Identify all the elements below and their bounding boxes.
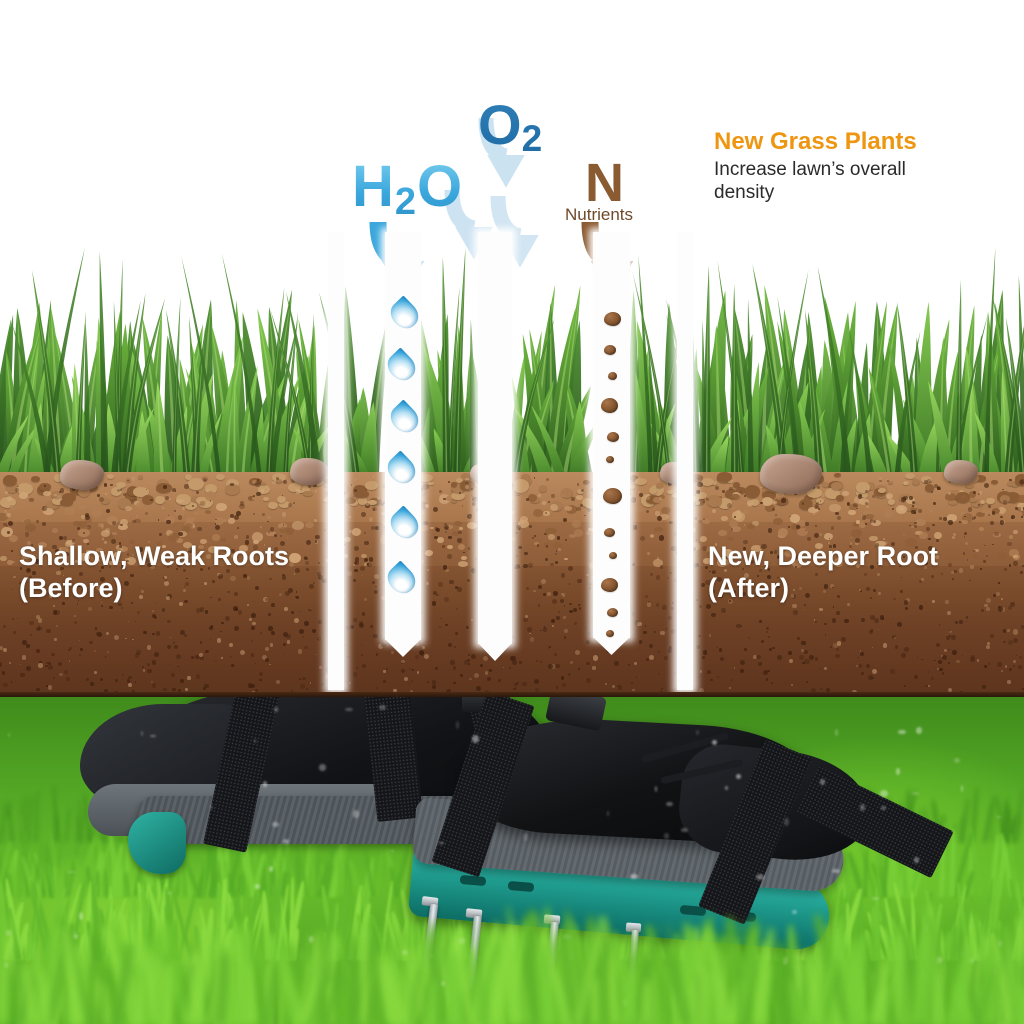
soil-speck	[262, 513, 265, 516]
soil-speck	[464, 491, 467, 494]
soil-speck	[655, 511, 659, 515]
soil-pebble	[263, 497, 269, 501]
soil-speck	[857, 657, 858, 658]
soil-speck	[471, 488, 473, 490]
product-photo	[0, 692, 1024, 1024]
soil-speck	[80, 648, 83, 651]
soil-grain	[561, 494, 566, 497]
soil-speck	[974, 516, 977, 519]
soil-speck	[38, 663, 42, 667]
soil-grain	[125, 506, 132, 511]
soil-speck	[305, 561, 309, 565]
soil-speck	[295, 568, 300, 573]
soil-speck	[669, 521, 673, 525]
soil-speck	[471, 654, 476, 659]
soil-speck	[174, 510, 176, 512]
soil-pebble	[717, 472, 733, 481]
soil-speck	[356, 667, 358, 669]
soil-speck	[815, 621, 817, 623]
soil-speck	[581, 489, 584, 492]
soil-speck	[988, 514, 990, 516]
dew-sparkle	[912, 792, 920, 794]
soil-speck	[1007, 629, 1010, 632]
soil-speck	[6, 513, 11, 518]
soil-speck	[259, 679, 261, 681]
soil-speck	[22, 655, 26, 659]
soil-speck	[715, 486, 719, 490]
soil-speck	[634, 662, 637, 665]
soil-speck	[998, 606, 1003, 611]
soil-speck	[380, 635, 383, 638]
soil-speck	[447, 554, 451, 558]
surface-rock	[944, 460, 978, 484]
soil-speck	[372, 581, 376, 585]
soil-speck	[424, 654, 429, 659]
soil-speck	[646, 658, 649, 661]
soil-speck	[666, 628, 668, 630]
soil-speck	[645, 595, 648, 598]
soil-speck	[448, 481, 450, 483]
soil-speck	[355, 479, 357, 481]
diagram-panel: H2O O2 N Nutrients New Grass Plants Incr…	[0, 0, 1024, 692]
soil-grain	[305, 522, 313, 528]
soil-speck	[364, 532, 366, 534]
soil-speck	[551, 619, 555, 623]
soil-speck	[552, 599, 557, 604]
soil-pebble	[349, 494, 354, 497]
soil-speck	[1008, 606, 1012, 610]
soil-speck	[904, 482, 907, 485]
soil-pebble	[513, 479, 529, 492]
soil-speck	[347, 571, 352, 576]
soil-speck	[423, 521, 428, 526]
soil-grain	[773, 501, 778, 504]
soil-speck	[438, 682, 439, 683]
soil-speck	[707, 670, 711, 674]
soil-speck	[42, 522, 46, 526]
soil-speck	[909, 496, 913, 500]
soil-speck	[132, 639, 133, 640]
soil-speck	[88, 607, 92, 611]
soil-speck	[804, 650, 808, 654]
soil-speck	[259, 672, 263, 676]
soil-speck	[120, 524, 123, 527]
soil-speck	[541, 579, 546, 584]
soil-speck	[580, 504, 583, 507]
soil-grain	[205, 510, 211, 514]
soil-grain	[528, 494, 537, 502]
soil-speck	[375, 526, 379, 530]
dew-sparkle	[916, 727, 921, 734]
soil-pebble	[29, 498, 34, 501]
soil-speck	[660, 631, 664, 635]
soil-speck	[206, 503, 209, 506]
soil-speck	[374, 574, 379, 579]
soil-speck	[143, 669, 145, 671]
label-h2o: H2O	[352, 158, 463, 221]
soil-speck	[699, 605, 702, 608]
soil-pebble	[261, 482, 266, 485]
soil-speck	[13, 631, 16, 634]
soil-speck	[439, 626, 441, 628]
soil-speck	[990, 521, 994, 525]
soil-pebble	[888, 499, 895, 504]
soil-speck	[962, 655, 964, 657]
soil-speck	[804, 609, 806, 611]
soil-speck	[9, 662, 11, 664]
soil-speck	[462, 505, 464, 507]
soil-speck	[354, 569, 357, 572]
soil-speck	[464, 660, 468, 664]
soil-speck	[177, 666, 178, 667]
soil-speck	[866, 664, 870, 668]
soil-pebble	[991, 480, 998, 484]
soil-speck	[1013, 665, 1015, 667]
soil-grain	[352, 528, 362, 536]
soil-speck	[661, 688, 663, 690]
nutrient-granule	[608, 372, 617, 380]
soil-speck	[804, 659, 809, 664]
soil-speck	[467, 514, 472, 519]
soil-speck	[558, 611, 559, 612]
soil-speck	[568, 673, 571, 676]
soil-speck	[426, 582, 429, 585]
soil-speck	[304, 621, 309, 626]
soil-speck	[515, 564, 520, 569]
soil-speck	[287, 640, 291, 644]
soil-speck	[122, 674, 125, 677]
soil-grain	[829, 504, 841, 513]
soil-speck	[1003, 629, 1007, 633]
soil-grain	[851, 529, 862, 537]
soil-speck	[234, 515, 239, 520]
soil-pebble	[912, 479, 920, 485]
soil-speck	[988, 662, 991, 665]
soil-grain	[458, 544, 465, 549]
soil-speck	[404, 677, 408, 681]
soil-speck	[466, 626, 469, 629]
soil-speck	[468, 547, 471, 550]
soil-speck	[947, 611, 951, 615]
lace-highlight	[712, 740, 717, 745]
soil-speck	[543, 593, 546, 596]
aerator-plate-left	[128, 812, 186, 874]
soil-speck	[675, 512, 676, 513]
soil-speck	[980, 568, 982, 570]
soil-speck	[815, 525, 817, 527]
soil-speck	[729, 487, 733, 491]
soil-speck	[731, 528, 734, 531]
soil-speck	[411, 680, 413, 682]
soil-speck	[577, 483, 579, 485]
soil-speck	[554, 653, 557, 656]
soil-speck	[90, 682, 94, 686]
grass-blade	[643, 980, 652, 1024]
soil-speck	[740, 669, 745, 674]
soil-speck	[215, 661, 217, 663]
soil-speck	[74, 621, 77, 624]
soil-speck	[445, 624, 448, 627]
soil-grain	[914, 505, 919, 508]
soil-speck	[1004, 568, 1007, 571]
soil-speck	[59, 536, 63, 540]
soil-speck	[970, 565, 973, 568]
soil-speck	[237, 527, 239, 529]
soil-speck	[578, 604, 580, 606]
soil-speck	[819, 533, 822, 536]
soil-grain	[961, 520, 967, 523]
soil-speck	[25, 532, 29, 536]
soil-speck	[928, 685, 930, 687]
soil-speck	[251, 626, 255, 630]
soil-speck	[912, 505, 914, 507]
soil-speck	[294, 573, 296, 575]
soil-speck	[734, 516, 736, 518]
soil-speck	[941, 573, 943, 575]
soil-grain	[735, 512, 745, 521]
soil-grain	[1013, 530, 1018, 534]
soil-speck	[298, 649, 303, 654]
soil-speck	[538, 585, 542, 589]
soil-speck	[570, 661, 573, 664]
soil-speck	[990, 634, 994, 638]
soil-speck	[269, 664, 271, 666]
soil-grain	[654, 527, 662, 532]
soil-speck	[1009, 564, 1012, 567]
soil-grain	[564, 558, 568, 561]
soil-speck	[1003, 500, 1008, 505]
soil-speck	[825, 634, 827, 636]
soil-speck	[318, 562, 320, 564]
soil-speck	[215, 525, 220, 530]
soil-speck	[172, 488, 176, 492]
soil-speck	[97, 499, 99, 501]
soil-grain	[344, 537, 352, 543]
soil-pebble	[365, 481, 377, 490]
soil-speck	[890, 623, 891, 624]
soil-speck	[662, 605, 667, 610]
soil-speck	[777, 655, 782, 660]
soil-speck	[948, 563, 952, 567]
soil-speck	[632, 689, 634, 691]
soil-speck	[205, 650, 208, 653]
soil-speck	[422, 512, 425, 515]
soil-speck	[766, 678, 768, 680]
soil-speck	[524, 552, 527, 555]
soil-grain	[19, 492, 28, 498]
soil-speck	[105, 656, 107, 658]
soil-pebble	[834, 473, 841, 477]
soil-speck	[964, 532, 967, 535]
soil-speck	[30, 634, 31, 635]
soil-grain	[520, 492, 529, 498]
soil-speck	[636, 676, 638, 678]
soil-speck	[370, 625, 373, 628]
soil-speck	[128, 683, 132, 687]
soil-grain	[700, 536, 707, 542]
h2o-sub: 2	[395, 181, 417, 223]
soil-speck	[318, 620, 322, 624]
soil-speck	[289, 562, 294, 567]
soil-speck	[895, 645, 898, 648]
nutrient-granule	[601, 398, 618, 413]
soil-speck	[954, 570, 956, 572]
soil-speck	[1013, 660, 1016, 663]
soil-speck	[799, 655, 804, 660]
dew-sparkle	[881, 806, 887, 809]
soil-speck	[871, 677, 873, 679]
soil-speck	[125, 638, 126, 639]
soil-speck	[475, 488, 477, 490]
soil-speck	[344, 680, 347, 683]
soil-speck	[561, 676, 564, 679]
soil-speck	[401, 660, 405, 664]
dew-sparkle	[696, 730, 699, 735]
soil-speck	[265, 658, 269, 662]
soil-speck	[952, 578, 954, 580]
soil-speck	[268, 613, 271, 616]
soil-grain	[762, 497, 773, 505]
soil-grain	[425, 504, 429, 507]
soil-speck	[589, 587, 591, 589]
soil-speck	[364, 563, 366, 565]
soil-speck	[260, 632, 262, 634]
soil-grain	[212, 534, 220, 541]
soil-speck	[670, 572, 672, 574]
lace-highlight	[736, 774, 741, 779]
soil-speck	[914, 512, 916, 514]
dew-sparkle	[274, 707, 278, 711]
soil-speck	[639, 640, 643, 644]
soil-speck	[802, 502, 805, 505]
soil-speck	[376, 653, 378, 655]
soil-speck	[578, 668, 579, 669]
soil-speck	[917, 656, 919, 658]
soil-speck	[710, 679, 712, 681]
soil-speck	[255, 663, 256, 664]
soil-speck	[586, 640, 590, 644]
soil-grain	[91, 507, 102, 517]
dew-sparkle	[73, 931, 76, 933]
soil-speck	[3, 683, 7, 687]
soil-speck	[939, 517, 942, 520]
soil-speck	[251, 653, 255, 657]
soil-speck	[11, 589, 12, 590]
soil-speck	[538, 494, 541, 497]
soil-speck	[522, 653, 523, 654]
soil-speck	[345, 626, 349, 630]
soil-grain	[80, 505, 87, 509]
soil-speck	[225, 616, 230, 621]
soil-speck	[964, 536, 966, 538]
soil-grain	[252, 497, 257, 500]
soil-speck	[444, 523, 447, 526]
soil-speck	[963, 552, 965, 554]
dew-sparkle	[8, 733, 10, 737]
soil-speck	[557, 536, 560, 539]
soil-speck	[901, 497, 906, 502]
soil-pebble	[905, 473, 915, 479]
soil-speck	[981, 609, 984, 612]
soil-speck	[671, 607, 674, 610]
soil-speck	[252, 622, 256, 626]
soil-speck	[240, 501, 245, 506]
soil-speck	[865, 502, 868, 505]
dew-sparkle	[784, 818, 789, 826]
soil-speck	[813, 513, 815, 515]
soil-speck	[510, 656, 515, 661]
soil-grain	[884, 510, 893, 518]
soil-speck	[457, 538, 462, 543]
soil-speck	[647, 552, 650, 555]
soil-grain	[279, 527, 289, 533]
soil-speck	[771, 682, 773, 684]
soil-speck	[79, 640, 80, 641]
soil-pebble	[107, 474, 114, 478]
soil-speck	[955, 621, 958, 624]
soil-speck	[284, 607, 288, 611]
soil-speck	[1000, 520, 1005, 525]
soil-speck	[365, 501, 370, 506]
soil-speck	[8, 521, 13, 526]
soil-speck	[789, 659, 794, 664]
soil-speck	[586, 678, 591, 683]
soil-speck	[766, 631, 769, 634]
soil-speck	[760, 487, 761, 488]
dew-sparkle	[391, 850, 394, 852]
soil-speck	[383, 680, 387, 684]
soil-speck	[310, 610, 312, 612]
soil-speck	[897, 622, 902, 627]
soil-speck	[36, 520, 39, 523]
soil-pebble	[138, 475, 143, 478]
soil-speck	[376, 687, 378, 689]
soil-speck	[172, 688, 175, 691]
soil-speck	[553, 591, 558, 596]
soil-speck	[1001, 598, 1003, 600]
soil-speck	[246, 535, 250, 539]
soil-speck	[196, 491, 200, 495]
soil-speck	[465, 480, 469, 484]
soil-speck	[469, 678, 471, 680]
soil-speck	[250, 684, 255, 689]
soil-speck	[914, 675, 918, 679]
soil-speck	[53, 677, 54, 678]
soil-speck	[914, 522, 916, 524]
soil-speck	[362, 664, 366, 668]
soil-speck	[703, 518, 705, 520]
divider-right	[677, 232, 693, 690]
soil-speck	[432, 685, 436, 689]
soil-speck	[793, 610, 798, 615]
soil-speck	[650, 534, 654, 538]
soil-grain	[43, 491, 51, 496]
soil-speck	[94, 671, 97, 674]
dew-sparkle	[896, 768, 900, 775]
soil-speck	[694, 517, 697, 520]
dew-sparkle	[961, 785, 963, 792]
soil-speck	[628, 664, 629, 665]
soil-speck	[698, 635, 701, 638]
soil-speck	[540, 661, 542, 663]
soil-speck	[468, 654, 470, 656]
soil-speck	[373, 634, 377, 638]
soil-speck	[551, 494, 554, 497]
soil-grain	[1017, 495, 1024, 502]
soil-speck	[586, 531, 590, 535]
soil-speck	[361, 512, 366, 517]
soil-speck	[836, 648, 839, 651]
